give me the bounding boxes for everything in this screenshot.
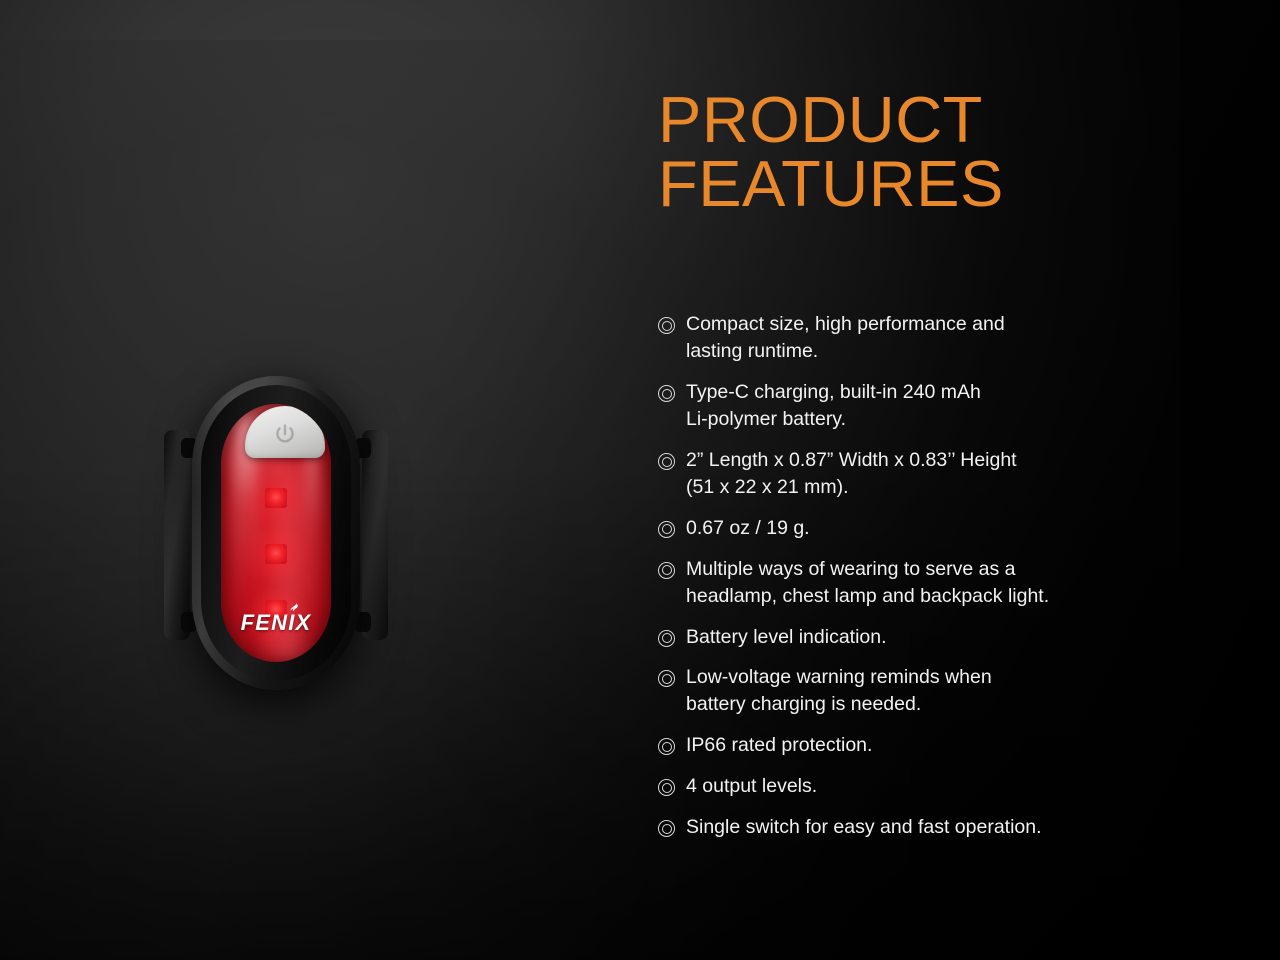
power-button[interactable] (245, 406, 325, 458)
list-item: Single switch for easy and fast operatio… (658, 814, 1128, 841)
light-body: FENIX (192, 376, 360, 690)
brand-logo: FENIX (221, 610, 331, 636)
led-indicator-middle (265, 544, 287, 564)
led-indicator-top (265, 488, 287, 508)
list-item: 4 output levels. (658, 773, 1128, 800)
red-lens: FENIX (221, 404, 331, 662)
feature-text: IP66 rated protection. (686, 732, 872, 759)
feature-text: Low-voltage warning reminds when battery… (686, 664, 992, 718)
double-circle-bullet-icon (658, 562, 675, 579)
page-title: PRODUCT FEATURES (658, 88, 1178, 215)
features-list: Compact size, high performance and lasti… (658, 311, 1128, 841)
double-circle-bullet-icon (658, 630, 675, 647)
double-circle-bullet-icon (658, 453, 675, 470)
feature-text: Compact size, high performance and lasti… (686, 311, 1005, 365)
double-circle-bullet-icon (658, 738, 675, 755)
double-circle-bullet-icon (658, 670, 675, 687)
double-circle-bullet-icon (658, 385, 675, 402)
double-circle-bullet-icon (658, 521, 675, 538)
mount-clip-left (164, 430, 190, 640)
double-circle-bullet-icon (658, 779, 675, 796)
list-item: Type-C charging, built-in 240 mAh Li-pol… (658, 379, 1128, 433)
feature-text: 2” Length x 0.87” Width x 0.83’’ Height … (686, 447, 1017, 501)
list-item: IP66 rated protection. (658, 732, 1128, 759)
feature-text: Type-C charging, built-in 240 mAh Li-pol… (686, 379, 981, 433)
product-features-slide: FENIX PRODUCT FEATURES Compact size, hig… (0, 0, 1280, 960)
feature-text: Multiple ways of wearing to serve as a h… (686, 556, 1049, 610)
feature-text: 4 output levels. (686, 773, 817, 800)
power-icon (273, 423, 297, 447)
product-image: FENIX (148, 368, 404, 698)
list-item: Battery level indication. (658, 624, 1128, 651)
feature-text: Single switch for easy and fast operatio… (686, 814, 1042, 841)
feature-text: 0.67 oz / 19 g. (686, 515, 810, 542)
light-body-inner-bezel: FENIX (201, 385, 351, 681)
list-item: Multiple ways of wearing to serve as a h… (658, 556, 1128, 610)
features-panel: PRODUCT FEATURES Compact size, high perf… (658, 88, 1178, 855)
feature-text: Battery level indication. (686, 624, 887, 651)
double-circle-bullet-icon (658, 820, 675, 837)
list-item: Compact size, high performance and lasti… (658, 311, 1128, 365)
double-circle-bullet-icon (658, 317, 675, 334)
mount-clip-right (362, 430, 388, 640)
list-item: 0.67 oz / 19 g. (658, 515, 1128, 542)
flame-icon (290, 603, 301, 614)
list-item: Low-voltage warning reminds when battery… (658, 664, 1128, 718)
list-item: 2” Length x 0.87” Width x 0.83’’ Height … (658, 447, 1128, 501)
